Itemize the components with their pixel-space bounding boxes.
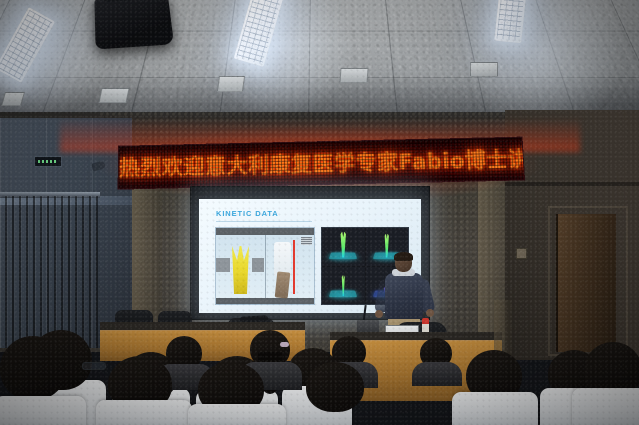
vent-1 [98,88,129,103]
subject-leg [275,271,291,298]
subject-torso [274,242,291,276]
slide-title-underline [216,221,312,222]
side-door[interactable] [556,214,616,352]
force-plot-cell-1 [322,228,365,266]
audience-member-10 [0,336,66,400]
vent-5 [1,92,25,106]
force-vector-arrow [232,246,249,294]
chair-back [452,392,538,425]
video-gray-block-2 [252,258,264,272]
vent-2 [217,76,245,92]
hair-tie [280,342,289,347]
slide-title: KINETIC DATA [216,209,279,218]
wall-socket [516,248,527,259]
audience-shoulders [412,362,462,386]
gait-video-panel [215,227,315,305]
chair-back [188,404,286,425]
ceiling-projector [94,0,174,49]
vent-4 [470,62,498,77]
force-plot-cell-3 [322,267,365,305]
exit-sign [34,156,62,167]
chair-back [572,388,639,425]
video-bottom-bar [216,298,314,304]
presenter-left-hand [375,310,383,318]
vertical-reference-line [293,240,295,294]
lecture-hall-photo: 热烈欢迎意大利康复医学专家Fabio博士讲座 KINETIC DATA [0,0,639,425]
blackout-curtain [0,196,98,348]
chair-back [0,396,86,425]
presenter-hair [394,252,413,261]
audience-member-13 [306,362,364,412]
video-split-line [265,235,266,298]
video-timestamp-marker [301,237,312,245]
chair-back [96,400,192,425]
presenter-right-hand [426,309,434,317]
right-wall-seam [505,182,639,186]
video-top-bar [216,228,314,235]
presenter-sweater [385,273,423,319]
led-banner-text: 热烈欢迎意大利康复医学专家Fabio博士讲座 [119,144,524,183]
video-gray-block-1 [216,258,230,272]
scrolling-led-banner: 热烈欢迎意大利康复医学专家Fabio博士讲座 [118,137,525,190]
vent-3 [339,68,368,83]
eyeglasses [82,362,106,370]
